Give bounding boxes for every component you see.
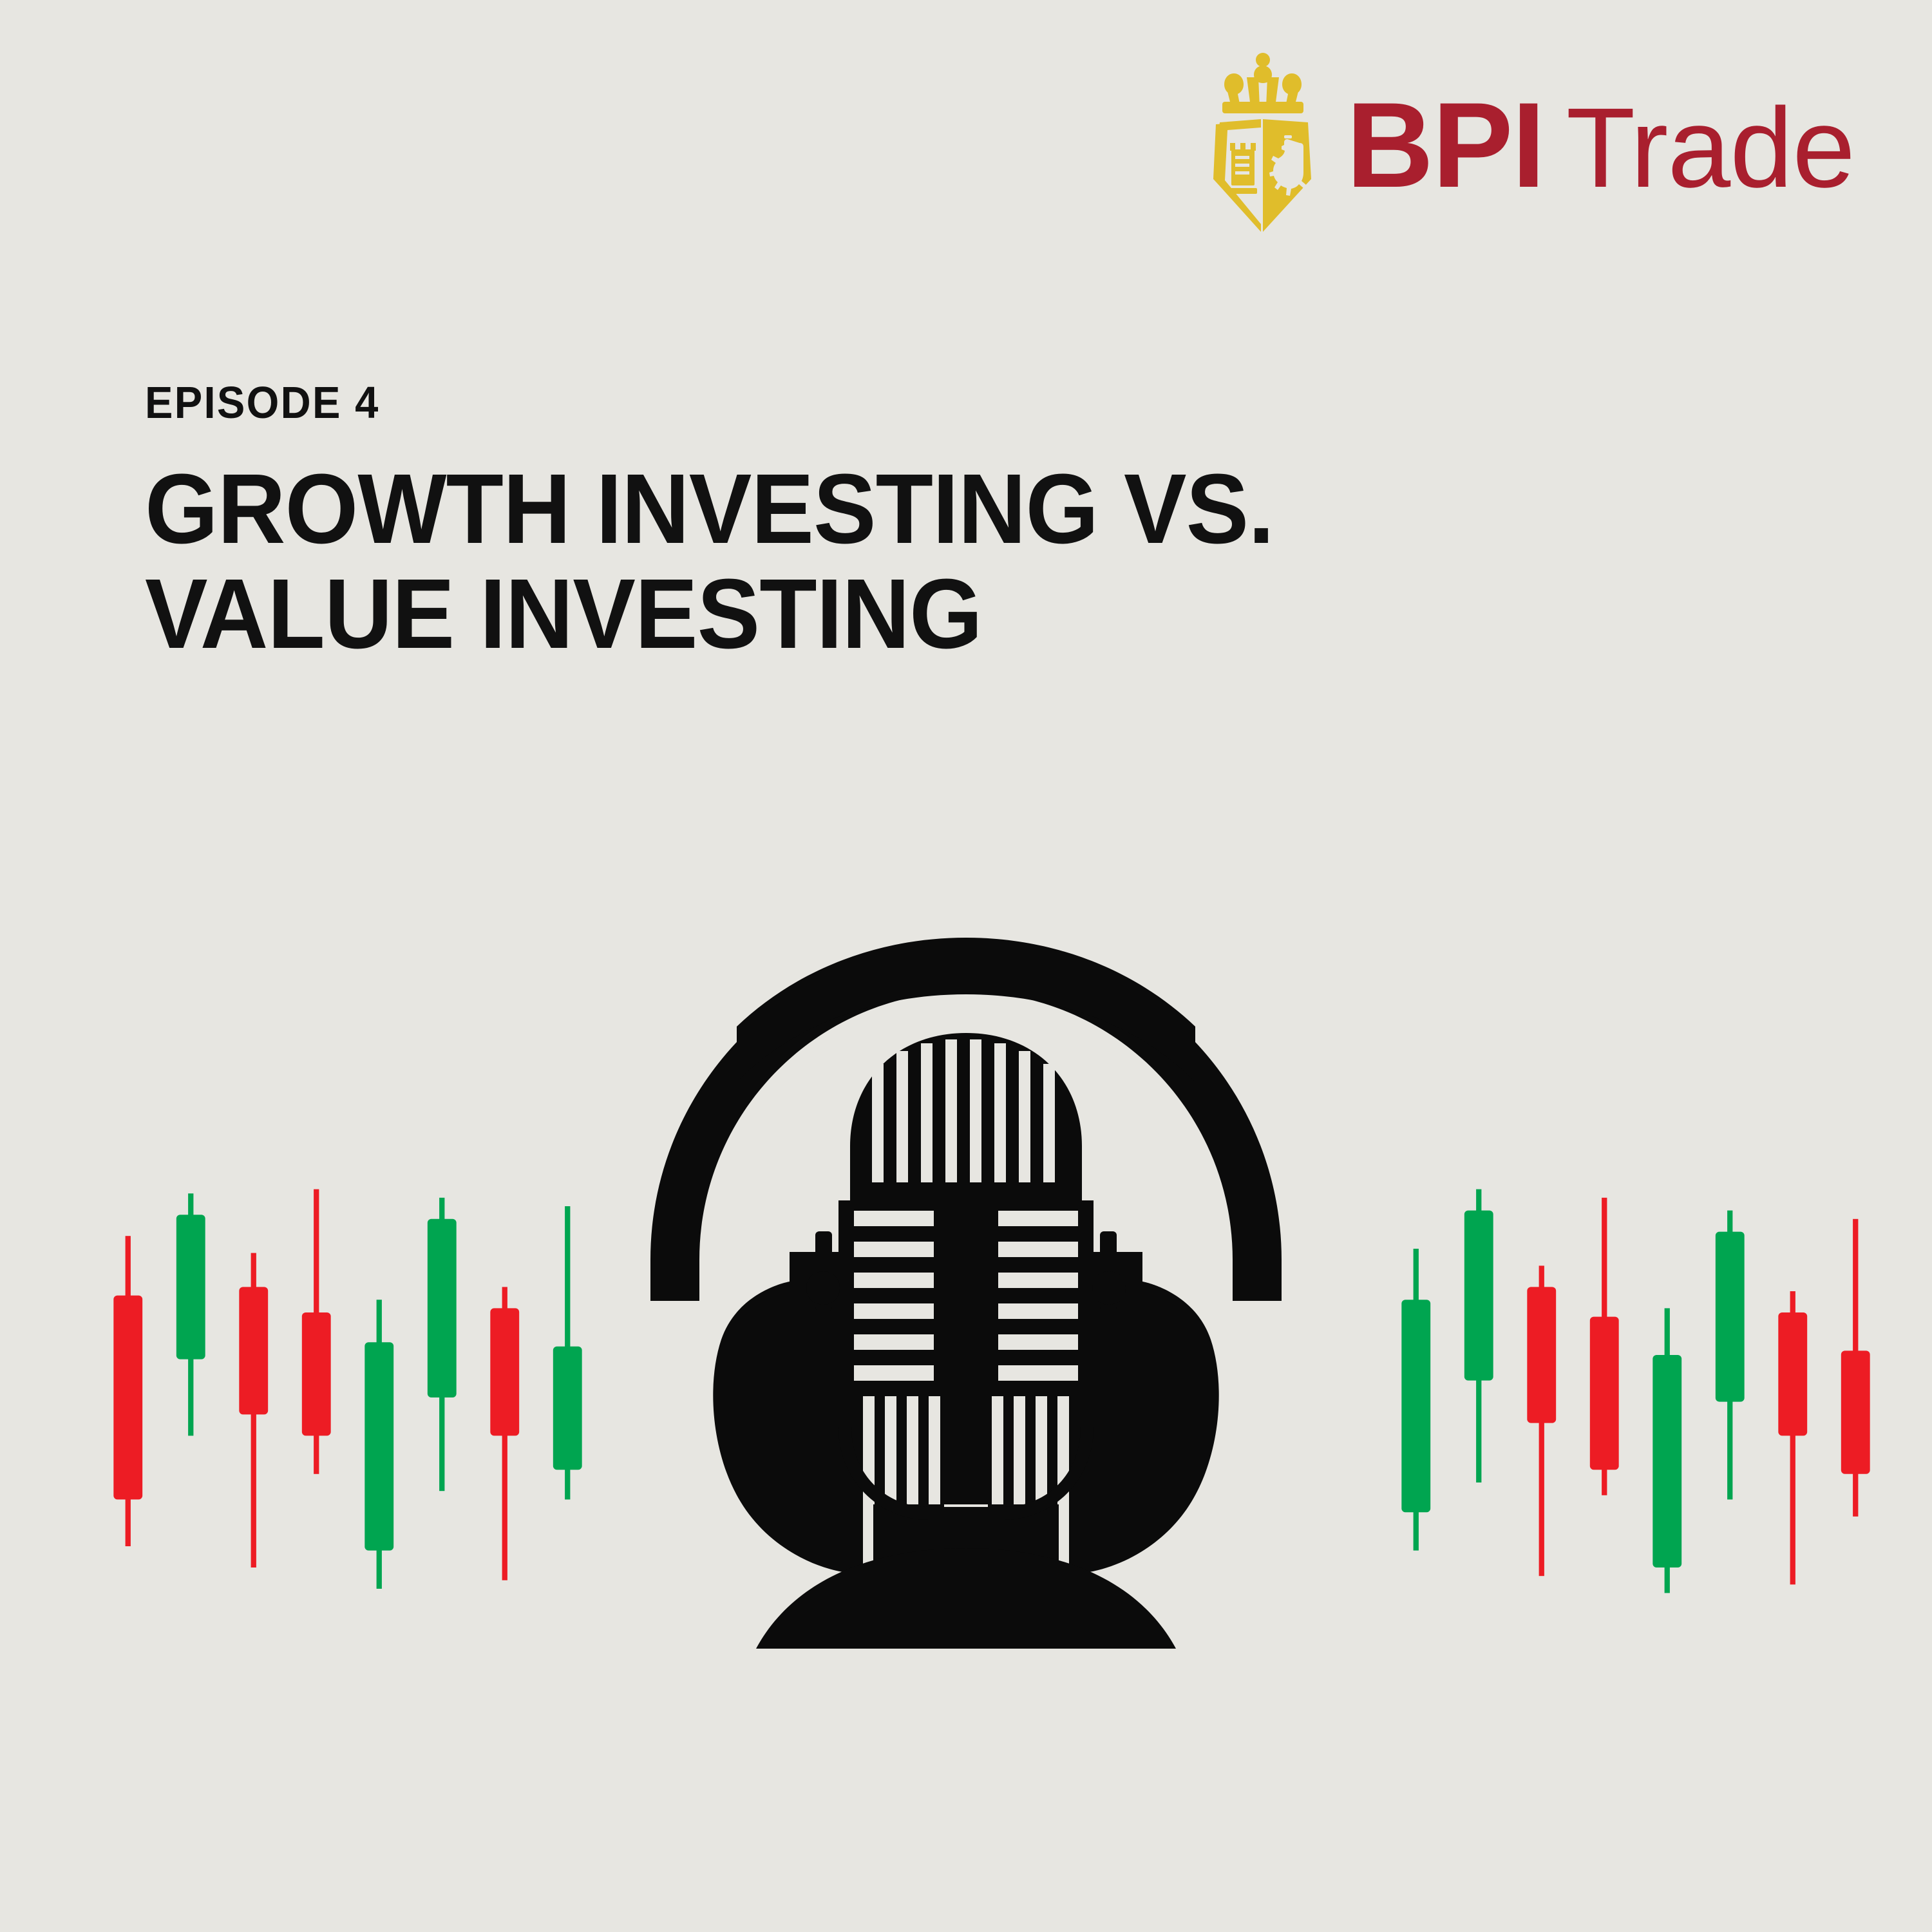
candle-body bbox=[1401, 1300, 1430, 1512]
candle-body bbox=[365, 1342, 393, 1550]
candlestick bbox=[176, 1193, 205, 1435]
candlestick bbox=[1464, 1189, 1493, 1482]
candle-body bbox=[490, 1308, 519, 1435]
candlestick bbox=[1653, 1308, 1681, 1593]
candlestick bbox=[1716, 1211, 1745, 1500]
candle-body bbox=[239, 1287, 268, 1414]
brand-word-trade: Trade bbox=[1566, 91, 1855, 205]
poster-canvas: BPI Trade EPISODE 4 GROWTH INVESTING VS.… bbox=[0, 0, 1932, 1932]
candlestick bbox=[1590, 1198, 1619, 1495]
candle-body bbox=[1778, 1312, 1807, 1435]
candlestick bbox=[1841, 1219, 1870, 1517]
bpi-shield-crown-icon bbox=[1202, 52, 1324, 238]
candlestick bbox=[113, 1236, 142, 1546]
podcast-microphone-headphones-icon bbox=[599, 914, 1333, 1674]
candle-body bbox=[1716, 1232, 1745, 1402]
candle-body bbox=[302, 1312, 331, 1435]
bpi-trade-logo[interactable]: BPI Trade bbox=[1202, 52, 1855, 238]
candlestick bbox=[553, 1206, 582, 1499]
candlestick bbox=[302, 1189, 331, 1474]
brand-wordmark: BPI Trade bbox=[1346, 84, 1855, 205]
candlestick-chart-left bbox=[97, 1185, 599, 1610]
page-title: GROWTH INVESTING VS. VALUE INVESTING bbox=[145, 457, 1613, 667]
candlestick bbox=[490, 1287, 519, 1580]
candle-body bbox=[176, 1215, 205, 1359]
candle-body bbox=[428, 1219, 457, 1397]
candle-body bbox=[1527, 1287, 1556, 1423]
brand-word-bpi: BPI bbox=[1346, 84, 1544, 205]
candle-body bbox=[113, 1296, 142, 1500]
candlestick bbox=[428, 1198, 457, 1491]
candle-body bbox=[1590, 1317, 1619, 1470]
headline-block: EPISODE 4 GROWTH INVESTING VS. VALUE INV… bbox=[145, 377, 1690, 667]
candle-body bbox=[1653, 1355, 1681, 1567]
candle-body bbox=[553, 1347, 582, 1470]
candlestick bbox=[1527, 1265, 1556, 1576]
candlestick bbox=[1401, 1249, 1430, 1551]
candle-body bbox=[1464, 1211, 1493, 1381]
candlestick-chart-right bbox=[1385, 1185, 1887, 1610]
candlestick-left-svg bbox=[97, 1185, 599, 1610]
candlestick-right-svg bbox=[1385, 1185, 1887, 1610]
candlestick bbox=[365, 1300, 393, 1589]
episode-label: EPISODE 4 bbox=[145, 377, 1582, 428]
candlestick bbox=[1778, 1291, 1807, 1584]
candlestick bbox=[239, 1253, 268, 1567]
candle-body bbox=[1841, 1350, 1870, 1473]
